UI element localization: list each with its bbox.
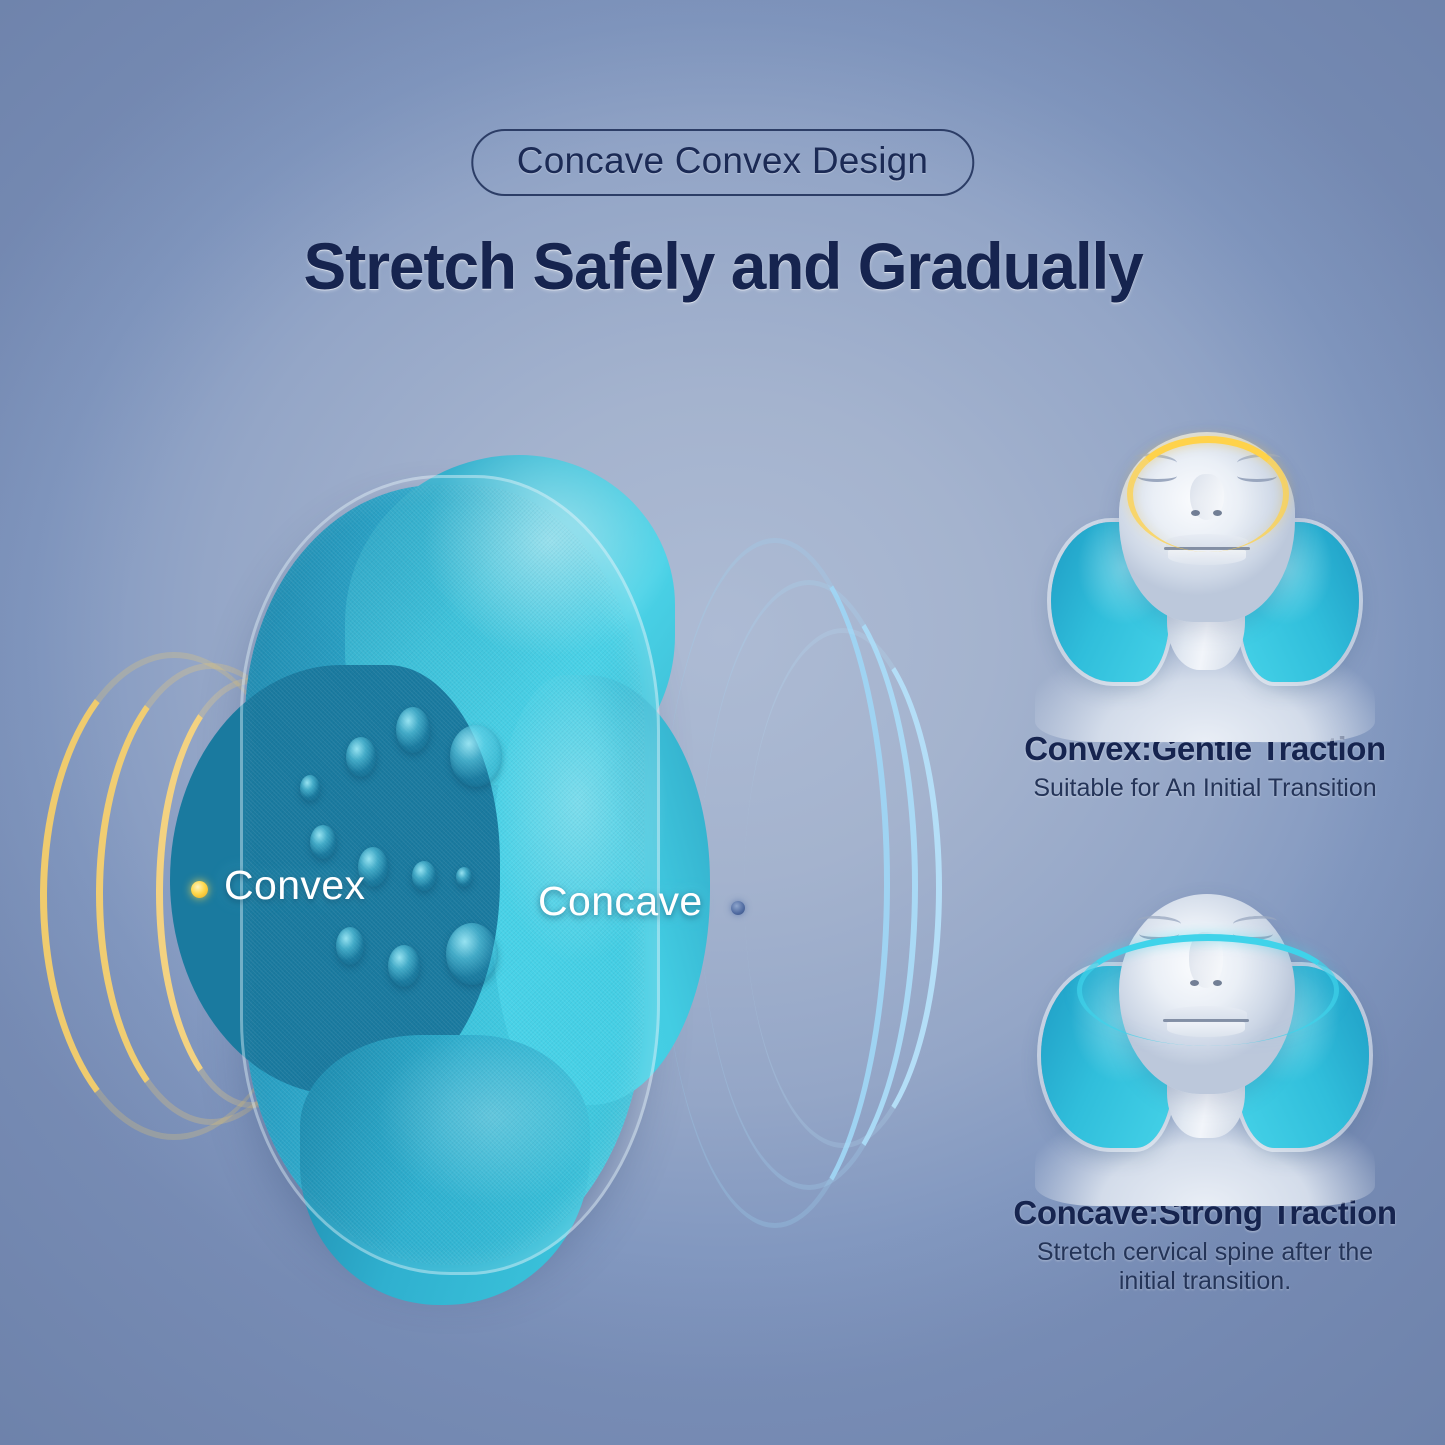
concave-subtitle-line-2: initial transition.: [1119, 1267, 1291, 1295]
product-stage: Convex Concave: [0, 420, 980, 1370]
concave-label: Concave: [538, 878, 703, 925]
concave-marker-dot: [731, 901, 745, 915]
acupressure-bump: [412, 861, 436, 891]
concave-illustration: [1015, 894, 1395, 1194]
design-badge: Concave Convex Design: [471, 129, 974, 196]
strong-traction-arc: [1077, 934, 1339, 1046]
acupressure-bump: [300, 775, 320, 801]
acupressure-bump: [346, 737, 376, 777]
concave-panel: Concave:Strong Traction Stretch cervical…: [985, 894, 1425, 1297]
acupressure-bump: [336, 927, 364, 965]
acupressure-bump: [446, 923, 498, 985]
acupressure-bump: [456, 867, 472, 887]
convex-panel: Convex:Gentle Traction Suitable for An I…: [985, 430, 1425, 804]
convex-label: Convex: [224, 862, 365, 909]
acupressure-bump: [310, 825, 336, 859]
convex-panel-subtitle: Suitable for An Initial Transition: [985, 774, 1425, 804]
gentle-traction-arc: [1127, 436, 1289, 552]
acupressure-bump: [396, 707, 430, 753]
acupressure-bump: [388, 945, 420, 987]
page-headline: Stretch Safely and Gradually: [303, 228, 1142, 304]
concave-subtitle-line-1: Stretch cervical spine after the: [1037, 1238, 1373, 1266]
convex-marker-dot: [191, 881, 208, 898]
usage-panels: Convex:Gentle Traction Suitable for An I…: [985, 430, 1425, 1297]
concave-wave-arc-3: [744, 628, 942, 1148]
convex-illustration: [1015, 430, 1395, 730]
acupressure-bump: [450, 725, 502, 787]
concave-panel-subtitle: Stretch cervical spine after the initial…: [985, 1238, 1425, 1297]
pillow-bottom-lobe: [300, 1035, 590, 1305]
